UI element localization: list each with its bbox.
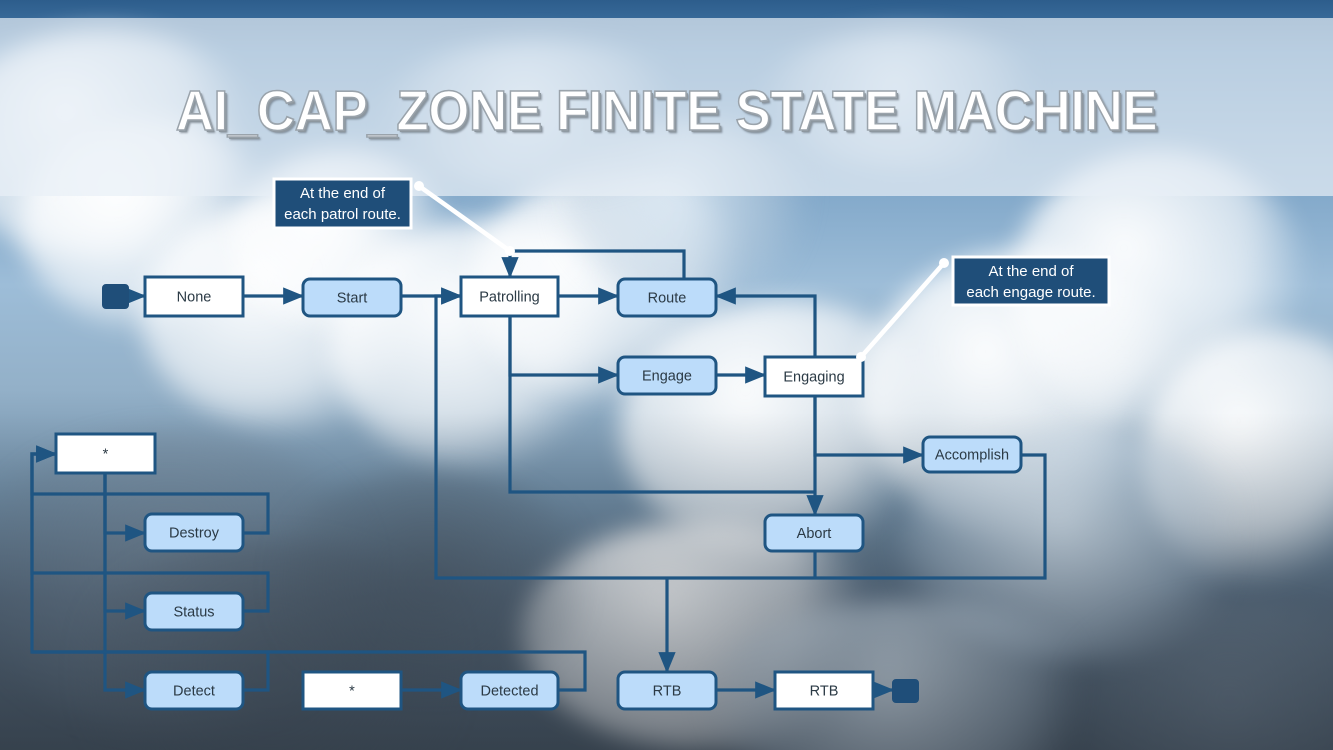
node-label-engage: Engage (642, 368, 692, 384)
node-label-route: Route (648, 290, 687, 306)
node-abort[interactable]: Abort (765, 515, 863, 551)
node-destroy[interactable]: Destroy (145, 514, 243, 551)
node-label-rtb-t: RTB (653, 683, 682, 699)
node-rtb-s[interactable]: RTB (775, 672, 873, 709)
node-route[interactable]: Route (618, 279, 716, 316)
edge-patrolling-to-engage (510, 316, 618, 375)
edge-any-1-to-detect (105, 473, 145, 690)
node-start-marker[interactable] (103, 285, 128, 308)
node-end-marker[interactable] (893, 680, 918, 702)
node-start[interactable]: Start (303, 279, 401, 316)
node-engaging[interactable]: Engaging (765, 357, 863, 396)
node-label-engaging: Engaging (783, 369, 844, 385)
node-label-any-1: * (103, 446, 109, 462)
node-any-2[interactable]: * (303, 672, 401, 709)
node-detect[interactable]: Detect (145, 672, 243, 709)
node-patrolling[interactable]: Patrolling (461, 277, 558, 316)
edge-engaging-to-route (716, 296, 815, 357)
node-label-abort: Abort (797, 526, 832, 542)
node-none[interactable]: None (145, 277, 243, 316)
node-label-any-2: * (349, 683, 355, 699)
callout-engage-leader-dot-1 (939, 258, 949, 268)
callout-patrol[interactable]: At the end ofeach patrol route. (274, 179, 515, 256)
node-engage[interactable]: Engage (618, 357, 716, 394)
node-label-rtb-s: RTB (810, 683, 839, 699)
callout-patrol-line2: each patrol route. (284, 206, 401, 223)
callout-patrol-leader-dot-1 (414, 181, 424, 191)
callout-engage-line2: each engage route. (966, 284, 1095, 301)
callout-patrol-leader-line (419, 186, 510, 251)
node-label-patrolling: Patrolling (479, 289, 539, 305)
node-detected[interactable]: Detected (461, 672, 558, 709)
callout-engage-leader-line (861, 263, 944, 357)
node-rtb-t[interactable]: RTB (618, 672, 716, 709)
callout-engage-line1: At the end of (988, 263, 1074, 280)
slide-canvas: AI_CAP_ZONE FINITE STATE MACHINE NoneSta… (0, 0, 1333, 750)
node-label-status: Status (173, 604, 214, 620)
node-label-detect: Detect (173, 683, 215, 699)
callout-engage[interactable]: At the end ofeach engage route. (856, 257, 1109, 362)
callouts-layer: At the end ofeach patrol route.At the en… (274, 179, 1109, 362)
state-machine-diagram: NoneStartPatrollingRouteEngageEngagingAc… (0, 0, 1333, 750)
node-label-destroy: Destroy (169, 525, 220, 541)
callout-patrol-leader-dot-2 (505, 246, 515, 256)
edge-engaging-to-accomplish (815, 396, 923, 455)
node-accomplish[interactable]: Accomplish (923, 437, 1021, 472)
node-label-accomplish: Accomplish (935, 447, 1009, 463)
node-any-1[interactable]: * (56, 434, 155, 473)
callout-engage-leader-dot-2 (856, 352, 866, 362)
node-label-detected: Detected (480, 683, 538, 699)
edge-patrolling-to-abort (510, 316, 815, 492)
callout-patrol-line1: At the end of (300, 185, 386, 202)
node-status[interactable]: Status (145, 593, 243, 630)
edge-any-1-to-destroy (105, 473, 145, 533)
node-label-start: Start (337, 290, 368, 306)
node-label-none: None (177, 289, 212, 305)
edge-route-to-patrolling (510, 251, 684, 279)
